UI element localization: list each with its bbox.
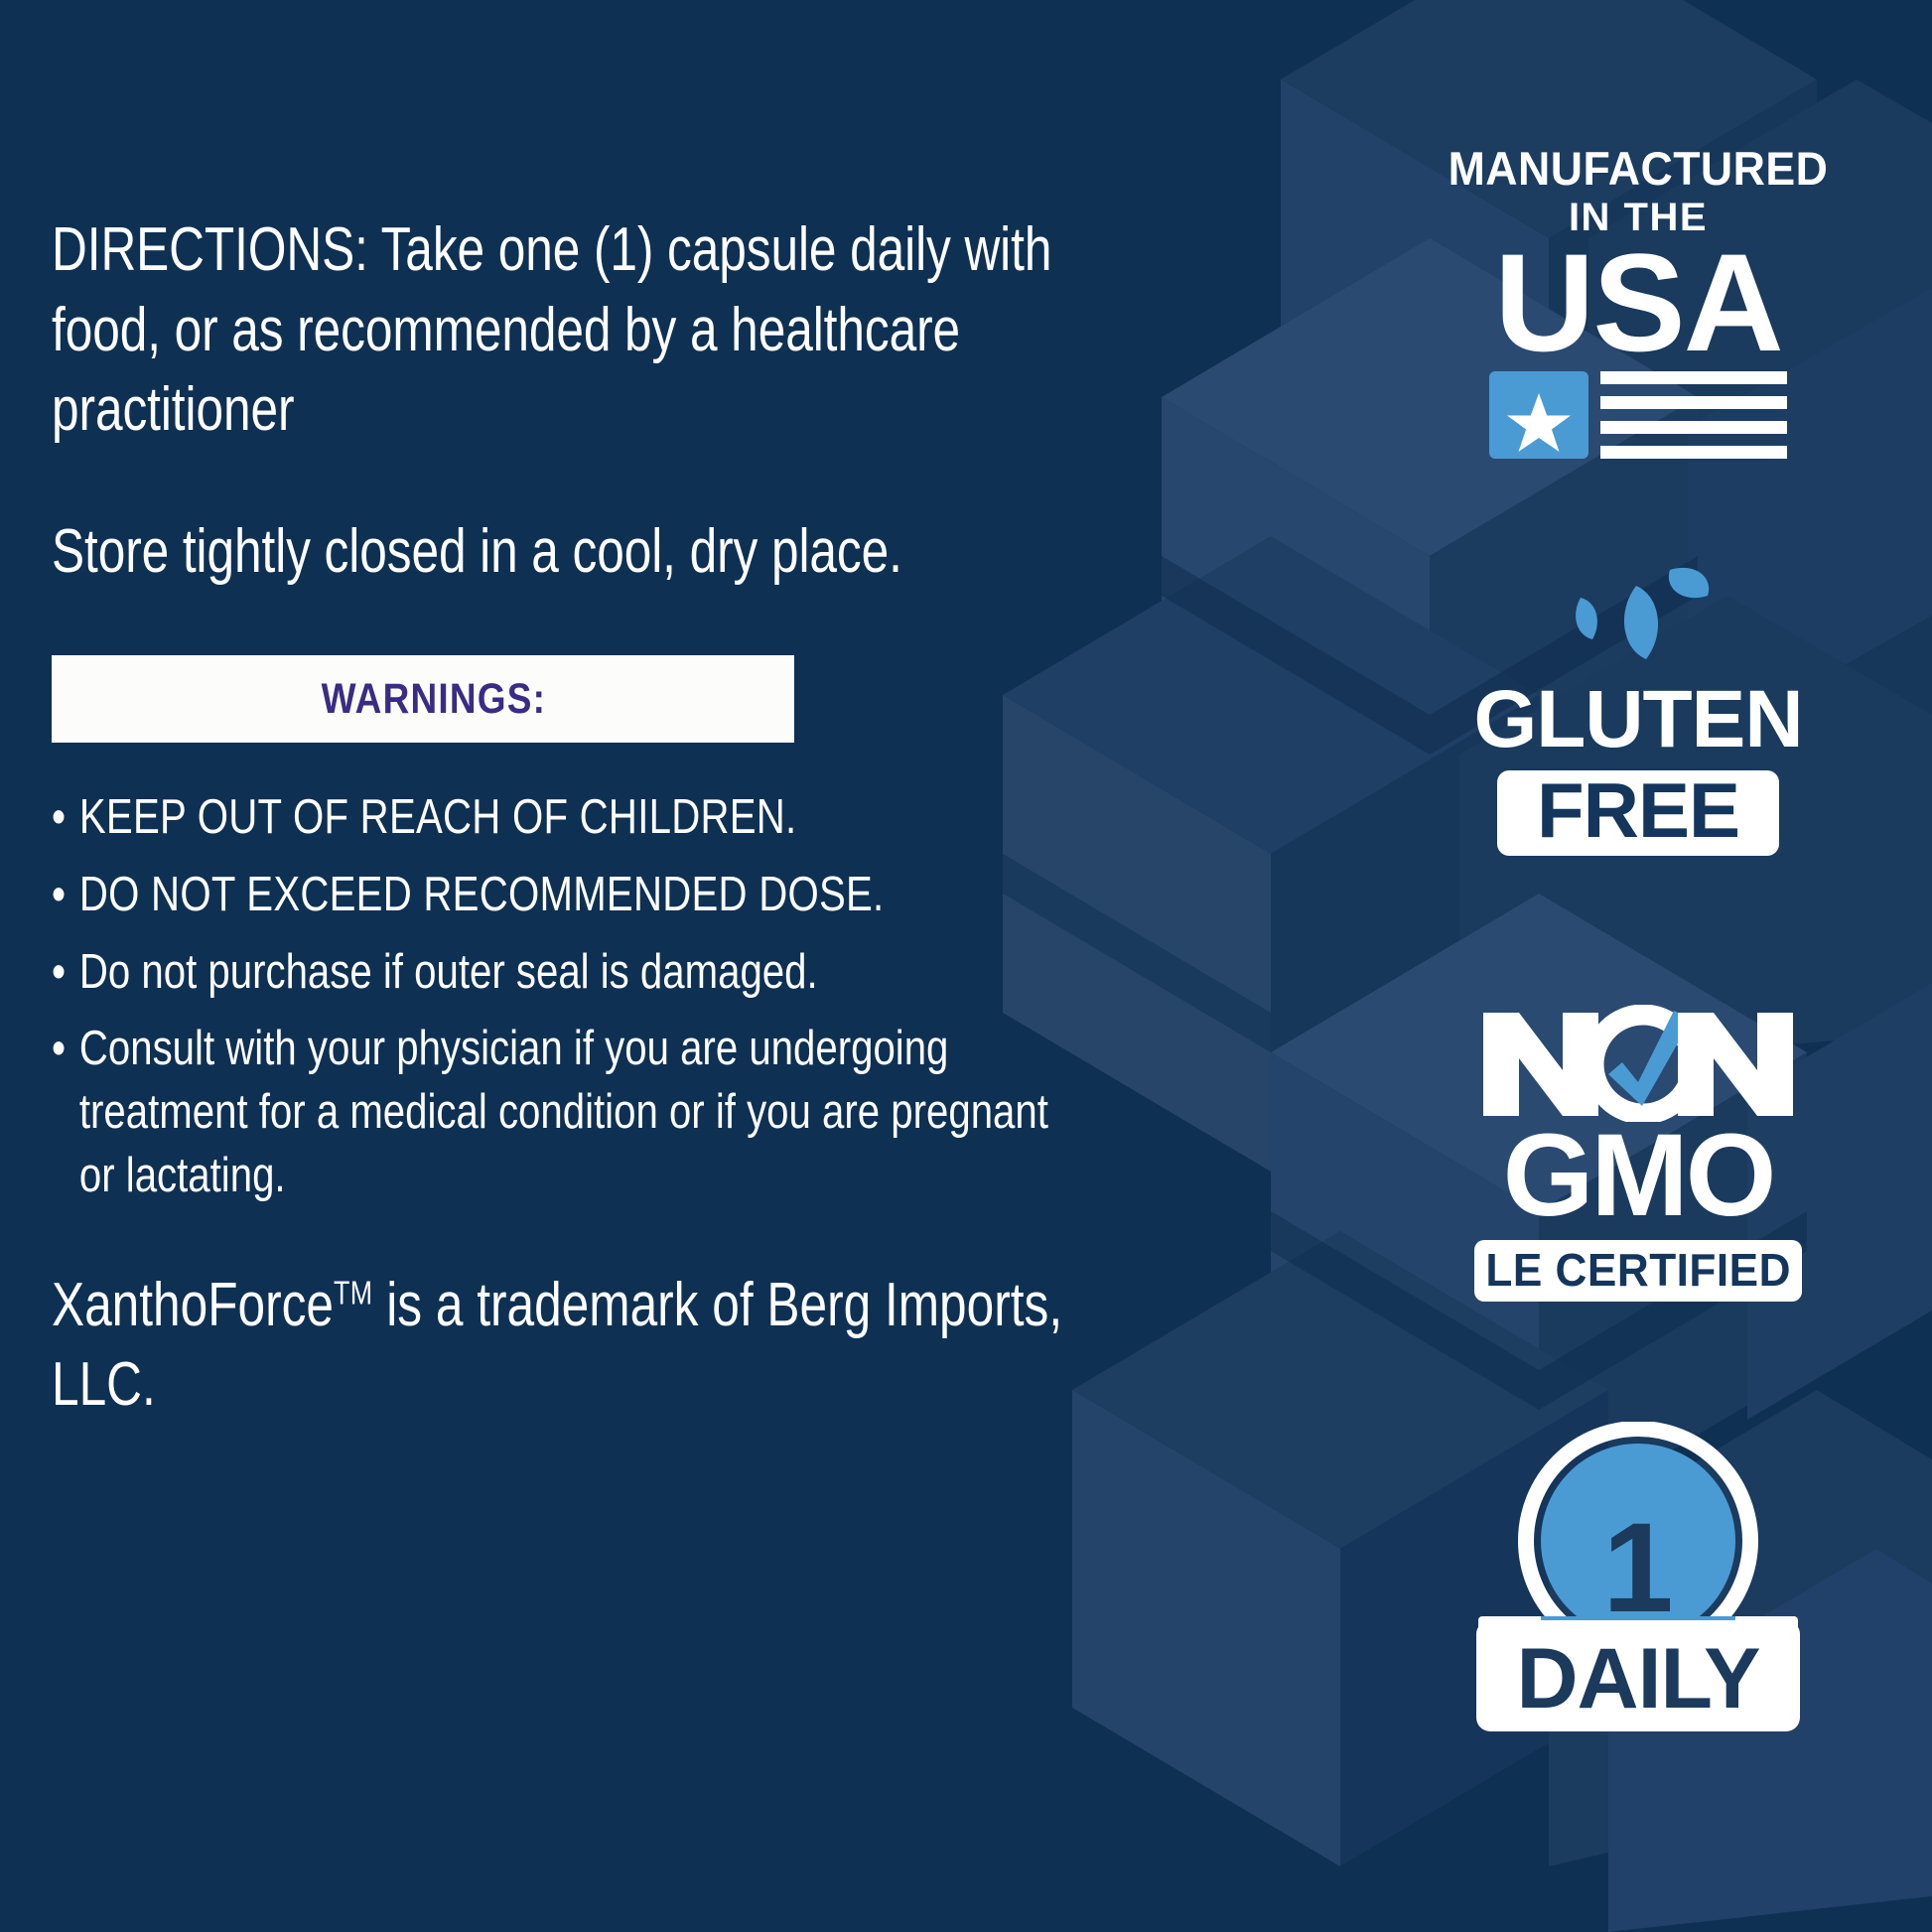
warning-list-item: • DO NOT EXCEED RECOMMENDED DOSE. <box>52 864 1065 927</box>
usa-line-1: MANUFACTURED <box>1441 145 1837 192</box>
warning-text: Consult with your physician if you are u… <box>79 1022 1048 1201</box>
warning-text: KEEP OUT OF REACH OF CHILDREN. <box>79 790 797 844</box>
brand-name: XanthoForce <box>52 1271 334 1339</box>
daily-word: DAILY <box>1516 1636 1759 1731</box>
warning-list-item: • Consult with your physician if you are… <box>52 1018 1065 1207</box>
bullet-icon: • <box>52 941 66 1005</box>
trademark-paragraph: XanthoForceTM is a trademark of Berg Imp… <box>52 1266 1076 1426</box>
gmo-word: GMO <box>1430 1120 1847 1232</box>
usa-flag-icon <box>1489 371 1787 459</box>
bullet-icon: • <box>52 786 66 850</box>
badge-manufactured-in-usa: MANUFACTURED IN THE USA <box>1430 145 1847 453</box>
warning-text: DO NOT EXCEED RECOMMENDED DOSE. <box>79 868 885 921</box>
daily-pill: DAILY <box>1476 1620 1800 1731</box>
bullet-icon: • <box>52 864 66 927</box>
supplement-label-panel: DIRECTIONS: Take one (1) capsule daily w… <box>0 0 1932 1932</box>
warning-text: Do not purchase if outer seal is damaged… <box>79 945 818 999</box>
circle-badge-icon: 1 DAILY <box>1474 1422 1802 1749</box>
label-text-column: DIRECTIONS: Take one (1) capsule daily w… <box>52 210 1074 1426</box>
bullet-icon: • <box>52 1018 66 1081</box>
le-certified-pill: LE CERTIFIED <box>1474 1240 1802 1302</box>
le-certified-word: LE CERTIFIED <box>1485 1247 1791 1296</box>
directions-paragraph: DIRECTIONS: Take one (1) capsule daily w… <box>52 210 1076 451</box>
trademark-symbol: TM <box>334 1275 372 1311</box>
warnings-header-bar: WARNINGS: <box>52 655 794 743</box>
usa-line-3: USA <box>1430 239 1847 367</box>
warning-list-item: • Do not purchase if outer seal is damag… <box>52 941 1065 1005</box>
storage-paragraph: Store tightly closed in a cool, dry plac… <box>52 512 1076 593</box>
warning-list-item: • KEEP OUT OF REACH OF CHILDREN. <box>52 786 1065 850</box>
non-word-with-check-circle-icon <box>1479 1005 1797 1122</box>
badge-one-daily: 1 DAILY <box>1430 1422 1847 1749</box>
gluten-word: GLUTEN <box>1430 679 1847 760</box>
wheat-grain-icon <box>1519 556 1757 675</box>
certification-badge-column: MANUFACTURED IN THE USA <box>1430 0 1847 1932</box>
badge-non-gmo: GMO LE CERTIFIED <box>1430 1005 1847 1352</box>
free-pill: FREE <box>1497 770 1779 856</box>
free-word: FREE <box>1537 771 1739 855</box>
warnings-list: • KEEP OUT OF REACH OF CHILDREN. • DO NO… <box>52 786 1074 1207</box>
warnings-title: WARNINGS: <box>300 675 547 724</box>
daily-number: 1 <box>1474 1505 1802 1632</box>
badge-gluten-free: GLUTEN FREE <box>1430 556 1847 894</box>
